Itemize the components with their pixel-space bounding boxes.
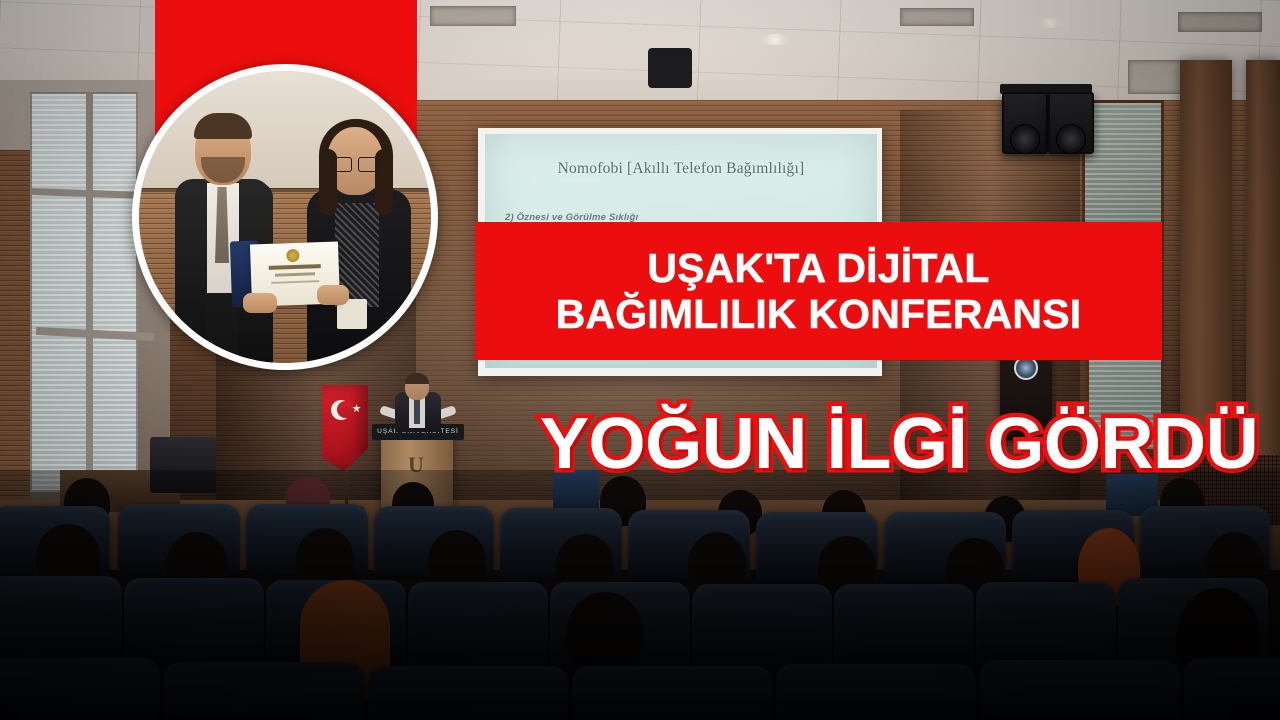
ceiling-speaker-right: [1048, 92, 1094, 154]
news-thumbnail: Nomofobi [Akıllı Telefon Bağımlılığı] 2)…: [0, 0, 1280, 720]
presenter-tie: [414, 398, 420, 424]
audience-seat-front: [1184, 658, 1280, 720]
inset-photo-certificate-award: [132, 64, 438, 370]
certificate-line: [271, 280, 319, 284]
inset-glasses-icon: [331, 157, 379, 170]
inset-man-hair: [194, 113, 252, 139]
audience-seat-front: [776, 664, 976, 720]
audience: [0, 470, 1280, 720]
audience-seat-front: [0, 658, 160, 720]
headline-secondary-fill: YOĞUN İLGİ GÖRDÜ: [540, 408, 1258, 480]
headline-primary-banner: UŞAK'TA DİJİTAL BAĞIMLILIK KONFERANSI: [475, 222, 1162, 360]
ceiling-speaker-left: [1002, 92, 1048, 154]
certificate-line: [269, 264, 321, 270]
slide-title: Nomofobi [Akıllı Telefon Bağımlılığı]: [485, 160, 877, 178]
audience-seat: [834, 584, 974, 668]
audience-seat-front: [164, 662, 364, 720]
headline-line-1: UŞAK'TA DİJİTAL: [647, 246, 989, 290]
ceiling-vent-left: [430, 6, 516, 26]
certificate-seal-icon: [286, 249, 299, 262]
ceiling-vent-mid: [900, 8, 974, 26]
inset-man-vest-left: [175, 183, 207, 368]
audience-head: [566, 592, 644, 676]
wall-column-right: [1180, 60, 1232, 460]
audience-seat: [124, 578, 264, 662]
headline-line-2: BAĞIMLILIK KONFERANSI: [556, 292, 1082, 336]
audience-seat: [408, 582, 548, 666]
speaker-cone-icon: [1056, 124, 1086, 154]
certificate-line: [275, 272, 315, 276]
projector-lamp: [648, 48, 692, 88]
flag-crescent-icon: [331, 400, 351, 420]
speaker-cone-icon: [1010, 124, 1040, 154]
inset-woman-hand: [317, 285, 349, 305]
audience-seat: [0, 576, 122, 660]
ceiling-vent-right: [1178, 12, 1262, 32]
left-wood-panel: [0, 150, 30, 510]
audience-seat: [692, 584, 832, 668]
ceiling-light-b: [760, 34, 790, 45]
headline-secondary: YOĞUN İLGİ GÖRDÜ YOĞUN İLGİ GÖRDÜ: [540, 398, 1140, 490]
audience-seat: [976, 582, 1116, 666]
inset-man-hand: [243, 293, 277, 313]
ceiling-light-c: [1036, 18, 1064, 28]
audience-seat-front: [980, 660, 1180, 720]
left-window-mullion: [86, 92, 93, 488]
left-window: [30, 92, 138, 492]
wall-column-far: [1246, 60, 1280, 460]
audience-seat-front: [572, 666, 772, 720]
audience-seat-front: [368, 666, 568, 720]
